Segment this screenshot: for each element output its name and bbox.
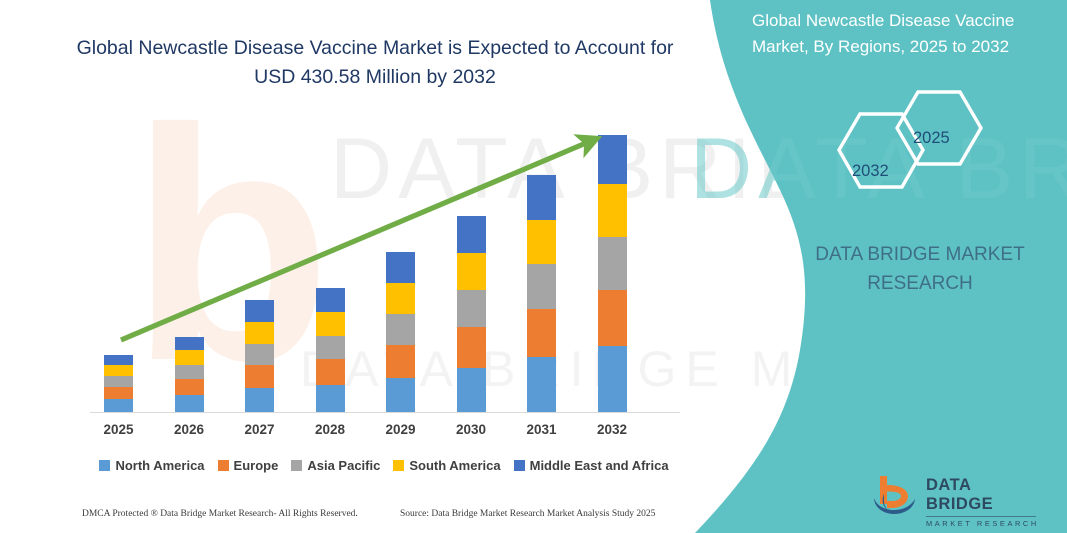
bar-2027 xyxy=(245,300,274,412)
bar-segment xyxy=(316,359,345,385)
chart-legend: North AmericaEuropeAsia PacificSouth Ame… xyxy=(94,455,674,475)
data-bridge-mark-icon xyxy=(872,474,918,516)
bar-segment xyxy=(527,264,556,309)
hex-label-2025: 2025 xyxy=(913,129,950,148)
x-axis-label-2025: 2025 xyxy=(89,422,149,437)
footer-copyright: DMCA Protected ® Data Bridge Market Rese… xyxy=(82,509,358,519)
bar-segment xyxy=(245,300,274,322)
bar-2029 xyxy=(386,252,415,412)
legend-item[interactable]: Europe xyxy=(218,458,279,473)
bar-segment xyxy=(316,385,345,412)
bar-segment xyxy=(175,365,204,379)
bar-segment xyxy=(527,220,556,264)
bar-segment xyxy=(386,345,415,378)
bar-segment xyxy=(245,322,274,344)
bar-segment xyxy=(386,283,415,314)
x-axis-label-2026: 2026 xyxy=(159,422,219,437)
chart-baseline xyxy=(90,412,680,413)
legend-item[interactable]: Middle East and Africa xyxy=(514,458,669,473)
legend-swatch-icon xyxy=(514,460,525,471)
x-axis-label-2027: 2027 xyxy=(230,422,290,437)
logo-name: DATA BRIDGE xyxy=(926,476,1042,514)
bar-segment xyxy=(104,376,133,387)
hex-label-2032: 2032 xyxy=(852,162,889,181)
bar-segment xyxy=(104,399,133,412)
bar-segment xyxy=(104,355,133,365)
bar-2026 xyxy=(175,337,204,412)
bar-segment xyxy=(386,378,415,412)
page-title: Global Newcastle Disease Vaccine Market … xyxy=(70,34,680,92)
bar-segment xyxy=(598,290,627,346)
bar-segment xyxy=(175,350,204,365)
legend-label: Europe xyxy=(234,458,279,473)
bar-segment xyxy=(457,327,486,368)
bar-segment xyxy=(598,346,627,412)
legend-item[interactable]: South America xyxy=(393,458,500,473)
bar-segment xyxy=(316,288,345,312)
logo-divider xyxy=(926,516,1036,517)
bar-2025 xyxy=(104,355,133,412)
bar-segment xyxy=(598,135,627,184)
bar-2031 xyxy=(527,175,556,412)
bar-segment xyxy=(386,252,415,283)
legend-label: South America xyxy=(409,458,500,473)
footer: DMCA Protected ® Data Bridge Market Rese… xyxy=(0,505,700,529)
bar-segment xyxy=(598,237,627,290)
bar-segment xyxy=(245,344,274,365)
legend-label: Asia Pacific xyxy=(307,458,380,473)
bar-segment xyxy=(104,365,133,376)
x-axis-labels: 20252026202720282029203020312032 xyxy=(0,422,700,444)
bar-segment xyxy=(245,365,274,388)
bar-segment xyxy=(457,253,486,290)
legend-item[interactable]: North America xyxy=(99,458,204,473)
bar-segment xyxy=(316,312,345,336)
panel-title: Global Newcastle Disease Vaccine Market,… xyxy=(752,8,1052,60)
legend-swatch-icon xyxy=(218,460,229,471)
x-axis-label-2032: 2032 xyxy=(582,422,642,437)
bar-segment xyxy=(527,175,556,220)
bar-2032 xyxy=(598,135,627,412)
x-axis-label-2029: 2029 xyxy=(371,422,431,437)
legend-swatch-icon xyxy=(393,460,404,471)
logo-tagline: MARKET RESEARCH xyxy=(926,519,1042,529)
bar-segment xyxy=(457,290,486,327)
bar-segment xyxy=(386,314,415,345)
bar-segment xyxy=(175,379,204,395)
bar-segment xyxy=(457,216,486,253)
bar-segment xyxy=(175,395,204,412)
bar-2028 xyxy=(316,288,345,412)
legend-label: North America xyxy=(115,458,204,473)
bar-segment xyxy=(457,368,486,412)
x-axis-label-2031: 2031 xyxy=(512,422,572,437)
bar-2030 xyxy=(457,216,486,412)
bar-segment xyxy=(316,336,345,359)
bar-segment xyxy=(598,184,627,237)
bar-segment xyxy=(175,337,204,350)
brand-logo: DATA BRIDGE MARKET RESEARCH xyxy=(872,472,1042,520)
footer-source: Source: Data Bridge Market Research Mark… xyxy=(400,509,655,519)
hexagon-badges xyxy=(820,88,1020,213)
legend-swatch-icon xyxy=(291,460,302,471)
x-axis-label-2030: 2030 xyxy=(441,422,501,437)
bar-segment xyxy=(245,388,274,412)
infographic-canvas: b DATA BRIDGE DATA BRIDGE MARKET RESEARC… xyxy=(0,0,1067,533)
bar-segment xyxy=(527,309,556,357)
x-axis-label-2028: 2028 xyxy=(300,422,360,437)
legend-swatch-icon xyxy=(99,460,110,471)
legend-item[interactable]: Asia Pacific xyxy=(291,458,380,473)
panel-brand-text: DATA BRIDGE MARKET RESEARCH xyxy=(790,240,1050,298)
bar-segment xyxy=(527,357,556,412)
legend-label: Middle East and Africa xyxy=(530,458,669,473)
bar-segment xyxy=(104,387,133,399)
